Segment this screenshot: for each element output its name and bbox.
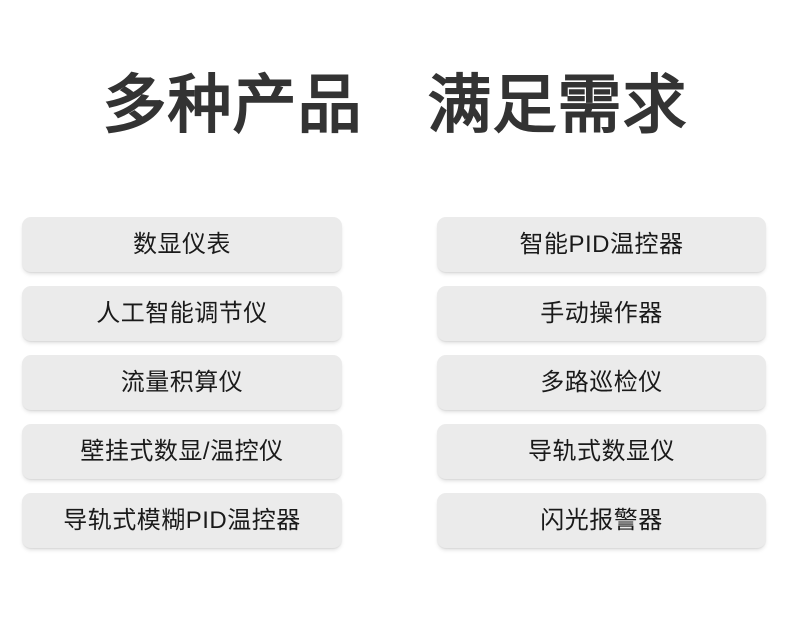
product-chip-label: 壁挂式数显/温控仪 (80, 440, 283, 464)
product-chip-zhinengpid-wenkongqi[interactable]: 智能PID温控器 (437, 217, 766, 272)
product-chip-shanguang-baojingqi[interactable]: 闪光报警器 (437, 493, 766, 548)
product-category-banner: 多种产品 满足需求 数显仪表 智能PID温控器 人工智能调节仪 手动操作器 流量… (0, 0, 790, 626)
product-chip-label: 流量积算仪 (121, 371, 244, 395)
page-title-area: 多种产品 满足需求 (0, 62, 790, 148)
product-chip-label: 人工智能调节仪 (96, 302, 268, 326)
product-category-grid: 数显仪表 智能PID温控器 人工智能调节仪 手动操作器 流量积算仪 多路巡检仪 … (22, 217, 766, 548)
product-chip-label: 闪光报警器 (540, 509, 663, 533)
product-chip-label: 手动操作器 (540, 302, 663, 326)
product-chip-biguashi-shuxian-wenkongyi[interactable]: 壁挂式数显/温控仪 (22, 424, 342, 479)
product-chip-label: 导轨式数显仪 (528, 440, 675, 464)
product-chip-label: 导轨式模糊PID温控器 (63, 509, 301, 533)
product-chip-label: 数显仪表 (133, 233, 231, 257)
product-chip-daoguishi-shuxianyi[interactable]: 导轨式数显仪 (437, 424, 766, 479)
product-chip-shuxianyibiao[interactable]: 数显仪表 (22, 217, 342, 272)
page-title: 多种产品 满足需求 (103, 73, 688, 137)
product-chip-label: 多路巡检仪 (540, 371, 663, 395)
product-chip-label: 智能PID温控器 (519, 233, 683, 257)
product-chip-rengongzhineng-tiaojieyi[interactable]: 人工智能调节仪 (22, 286, 342, 341)
product-chip-liuliang-jisuanyi[interactable]: 流量积算仪 (22, 355, 342, 410)
product-chip-daoguishi-mohupid-wenkongqi[interactable]: 导轨式模糊PID温控器 (22, 493, 342, 548)
product-chip-shoudong-caozuoqi[interactable]: 手动操作器 (437, 286, 766, 341)
product-chip-duolu-xunjianyi[interactable]: 多路巡检仪 (437, 355, 766, 410)
